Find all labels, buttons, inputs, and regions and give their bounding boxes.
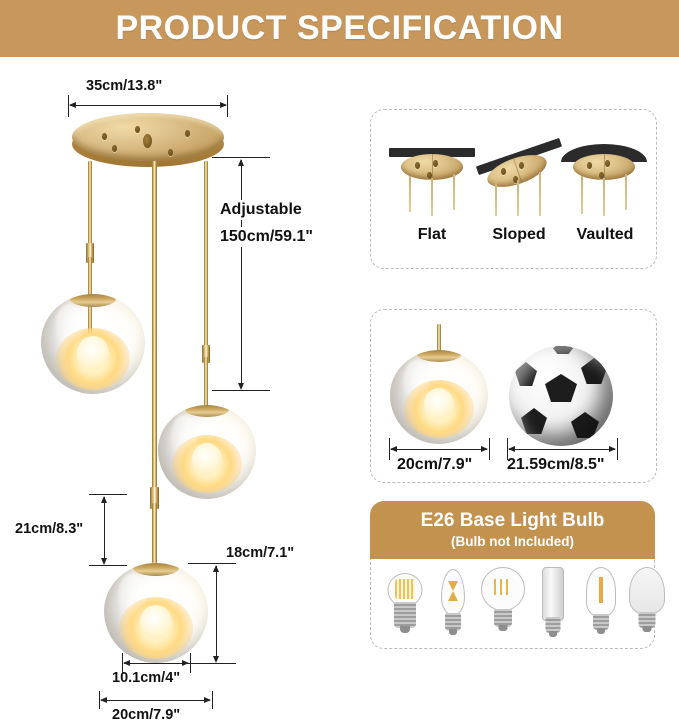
dim-adjustable-arrow-up [238,159,244,166]
tubular-t-bulb-icon [533,567,573,639]
dim-drop-spacing-tick-bottom [89,565,127,566]
dim-shade-neck-line [124,663,188,664]
ceiling-canopy [72,113,224,169]
compare-ball-arrow-right [609,446,616,452]
dim-adjustable-label: Adjustable [218,200,304,220]
dim-shade-width-line [101,700,210,701]
suspension-rod-left [88,161,92,249]
pendant-globe-upper-left [41,294,145,394]
dim-canopy-width-label: 35cm/13.8" [86,78,162,94]
page-title: PRODUCT SPECIFICATION [115,9,563,48]
dim-drop-spacing-line [104,497,105,563]
dim-shade-height-tick-bottom [188,663,236,664]
dim-shade-height-tick-top [188,563,236,564]
dim-canopy-width-line [70,105,226,106]
edison-st64-bulb-icon [579,567,623,639]
bulb-panel: E26 Base Light Bulb (Bulb not Included) [370,501,655,649]
dim-shade-width-arrow-left [100,697,107,703]
frosted-a19-bulb-icon [625,567,669,639]
dim-shade-width-tick-right [212,691,213,709]
mount-label-flat: Flat [385,226,479,244]
dim-adjustable-tick-bottom [212,390,270,391]
dim-shade-height-arrow-up [213,565,219,572]
suspension-rod-center-lower [152,503,157,563]
compare-globe-line [391,449,487,450]
dim-drop-spacing-arrow-up [101,496,107,503]
dim-canopy-width-arrow-left [69,102,76,108]
dim-shade-neck-arrow-right [182,660,189,666]
bulb-panel-subtitle: (Bulb not Included) [451,535,574,549]
suspension-rod-right [204,161,208,351]
dim-adjustable-line [241,160,242,388]
compare-ball-arrow-left [508,446,515,452]
dim-shade-width-arrow-right [204,697,211,703]
bulb-panel-body [370,559,655,649]
globe-g25-bulb-icon [479,567,527,639]
bulb-panel-title: E26 Base Light Bulb [421,511,605,530]
page-header-banner: PRODUCT SPECIFICATION [0,0,679,57]
pendant-globe-lower-center [104,563,208,663]
size-comparison-panel: 20cm/7.9" 21.59cm/8.5" [370,309,657,483]
dim-adjustable-tick-top [212,157,270,158]
spec-stage: 35cm/13.8" [0,57,679,668]
compare-pendant-globe [390,350,488,444]
dim-drop-spacing-tick-top [89,494,127,495]
pendant-globe-middle-right [158,405,256,499]
compare-globe-tick-right [489,438,490,460]
dim-canopy-width-tick-right [227,95,228,117]
dim-shade-height-line [216,566,217,661]
compare-soccer-ball [509,346,613,446]
bulb-panel-header: E26 Base Light Bulb (Bulb not Included) [370,501,655,559]
dim-shade-width-label: 20cm/7.9" [112,707,180,723]
candle-flame-bulb-icon [431,569,475,639]
compare-globe-arrow-left [390,446,397,452]
dim-drop-spacing-label: 21cm/8.3" [15,521,83,537]
led-corn-bulb-icon [383,571,427,639]
mounting-options-panel: Flat Sloped Vaulted [370,109,657,269]
dim-shade-height-label: 18cm/7.1" [226,545,294,561]
dim-adjustable-arrow-down [238,383,244,390]
dim-canopy-width-arrow-right [220,102,227,108]
dim-drop-spacing-arrow-down [101,558,107,565]
mount-label-sloped: Sloped [467,226,571,244]
compare-ball-tick-right [617,438,618,460]
dim-adjustable-value: 150cm/59.1" [218,227,315,247]
compare-ball-line [509,449,615,450]
dim-shade-neck-tick-right [190,653,191,673]
dim-shade-neck-arrow-left [123,660,130,666]
compare-globe-size-label: 20cm/7.9" [397,456,472,474]
dim-shade-height-arrow-down [213,656,219,663]
mount-label-vaulted: Vaulted [557,226,653,244]
compare-globe-arrow-right [481,446,488,452]
dim-shade-neck-label: 10.1cm/4" [112,670,180,686]
compare-ball-size-label: 21.59cm/8.5" [507,456,604,474]
suspension-rod-center [152,161,157,505]
